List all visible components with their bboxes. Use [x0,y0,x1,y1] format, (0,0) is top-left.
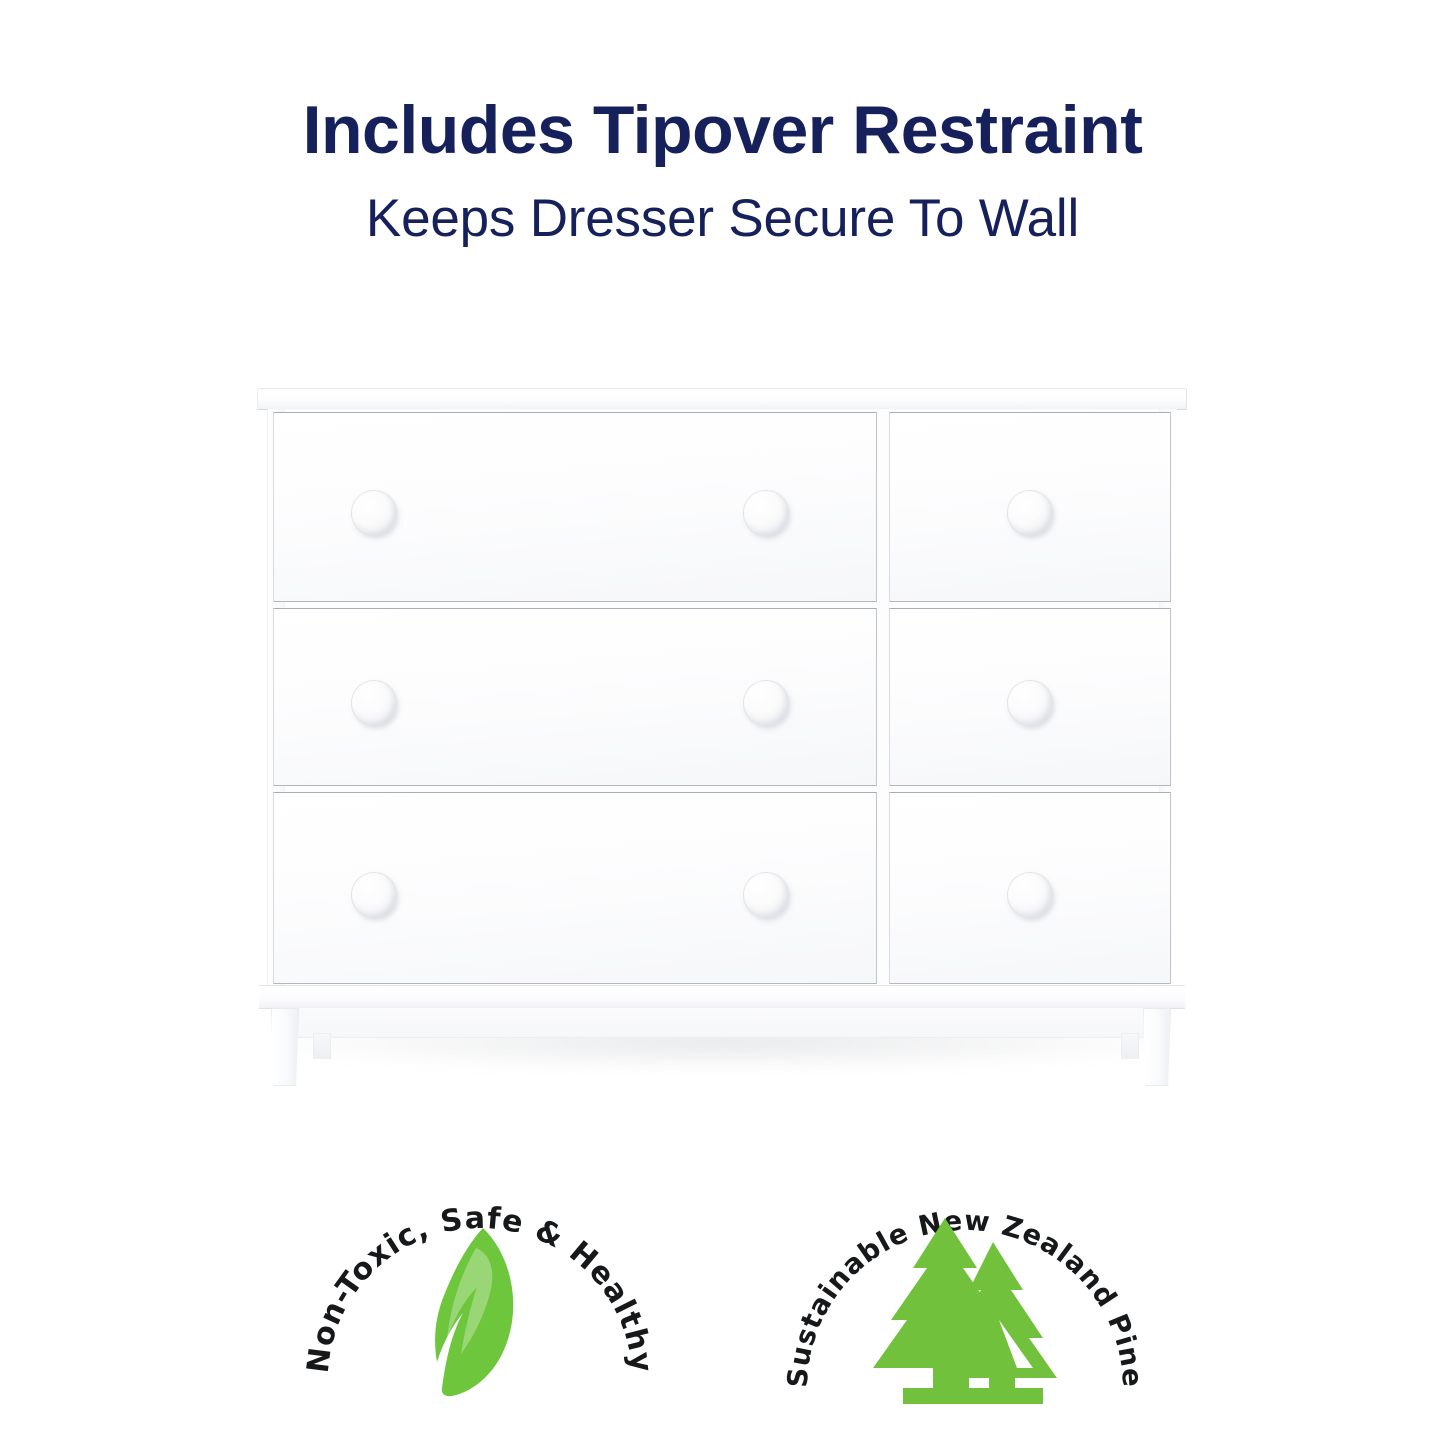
drawer-knob-icon[interactable] [352,681,396,725]
drawer-right-3[interactable] [889,792,1171,984]
badge-non-toxic: Non-Toxic, Safe & Healthy [300,1130,660,1445]
leaf-icon [435,1228,513,1396]
drawer-knob-icon[interactable] [352,491,396,535]
drawer-column-right [889,412,1171,984]
dresser-leg-right [1143,1008,1171,1086]
drawer-left-1[interactable] [273,412,877,602]
drawer-right-2[interactable] [889,608,1171,786]
header-block: Includes Tipover Restraint Keeps Dresser… [0,0,1445,245]
dresser-illustration [253,388,1191,1088]
dresser-base-apron [259,985,1185,1009]
drawer-knob-icon[interactable] [352,873,396,917]
dresser-foot-block-left [313,1033,331,1059]
page-title: Includes Tipover Restraint [0,96,1445,164]
dresser-foot-block-right [1121,1033,1139,1059]
certification-badges: Non-Toxic, Safe & Healthy Sustainable Ne… [0,1130,1445,1445]
product-image-stage [0,370,1445,1110]
drawer-knob-icon[interactable] [1008,873,1052,917]
drawer-column-left [273,412,877,984]
drawer-left-2[interactable] [273,608,877,786]
drawer-knob-icon[interactable] [744,681,788,725]
badge-sustainable-pine: Sustainable New Zealand Pine [785,1130,1145,1445]
drawer-knob-icon[interactable] [744,873,788,917]
drawer-knob-icon[interactable] [744,491,788,535]
drawer-knob-icon[interactable] [1008,491,1052,535]
drawer-knob-icon[interactable] [1008,681,1052,725]
drawer-right-1[interactable] [889,412,1171,602]
dresser-top-surface [257,388,1187,410]
dresser-stretcher [297,1008,1145,1038]
drawer-grid [273,412,1171,984]
page-subtitle: Keeps Dresser Secure To Wall [0,164,1445,245]
drawer-left-3[interactable] [273,792,877,984]
dresser-leg-left [271,1008,299,1086]
